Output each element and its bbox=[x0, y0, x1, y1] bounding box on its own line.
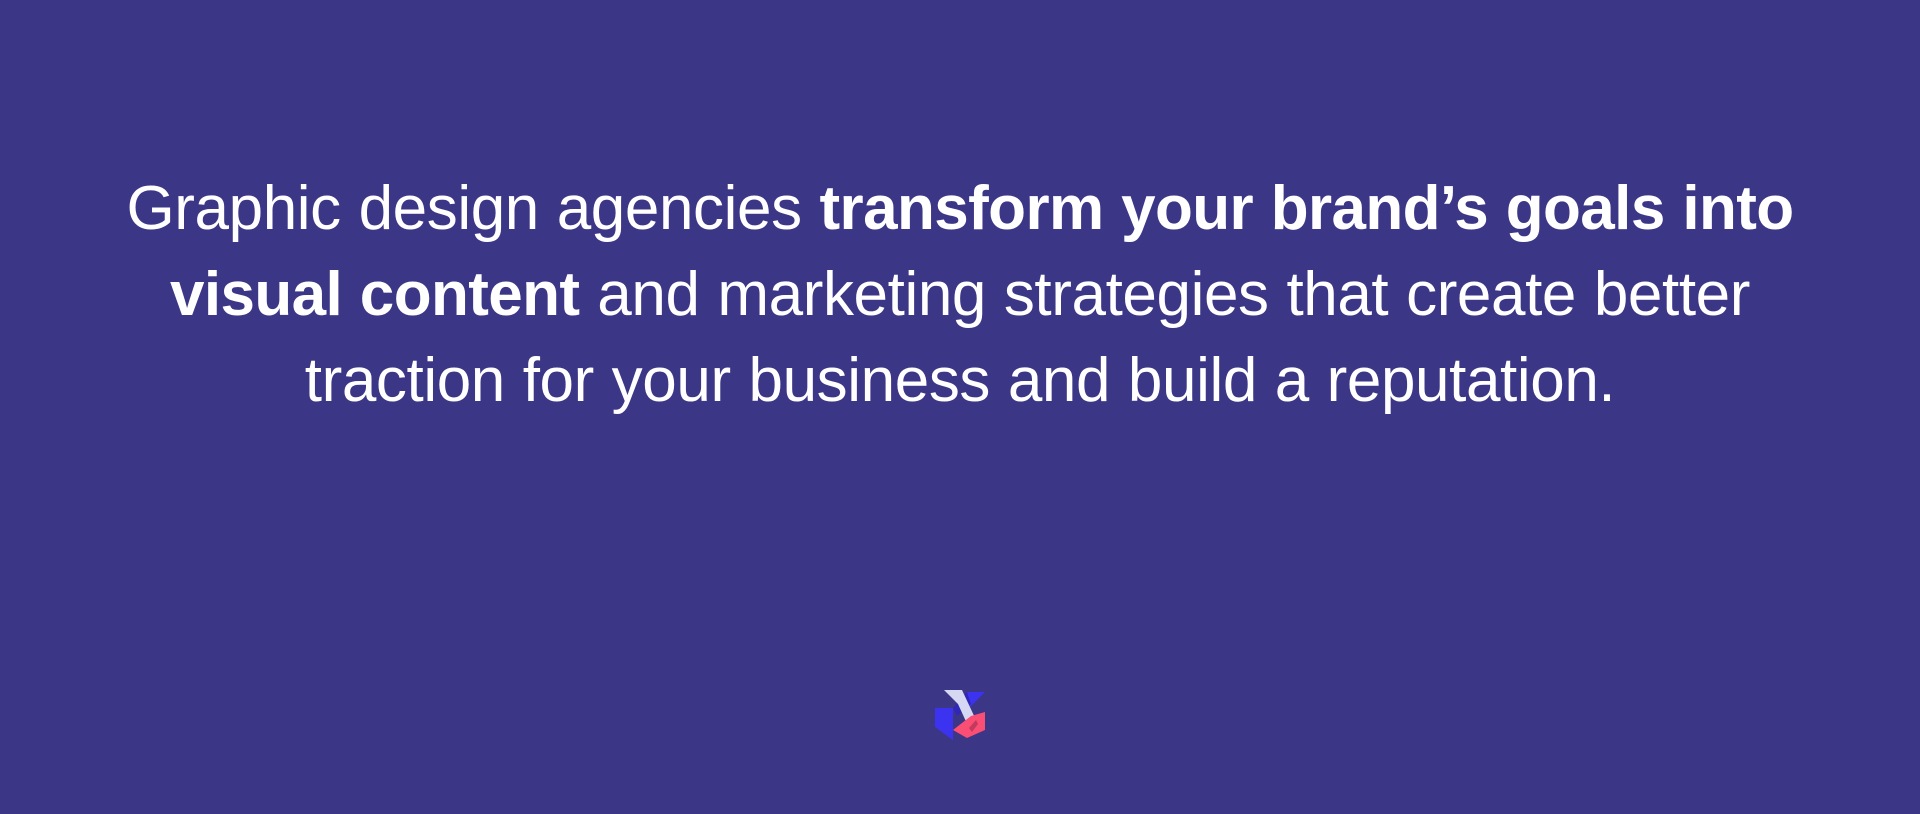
quote-banner: Graphic design agencies transform your b… bbox=[0, 0, 1920, 814]
quote-segment-regular-lead: Graphic design agencies bbox=[126, 174, 819, 243]
quote-text: Graphic design agencies transform your b… bbox=[120, 166, 1800, 424]
quote-block: Graphic design agencies transform your b… bbox=[120, 166, 1800, 424]
logo-container bbox=[928, 683, 992, 747]
pinwheel-logo-icon bbox=[931, 686, 989, 744]
